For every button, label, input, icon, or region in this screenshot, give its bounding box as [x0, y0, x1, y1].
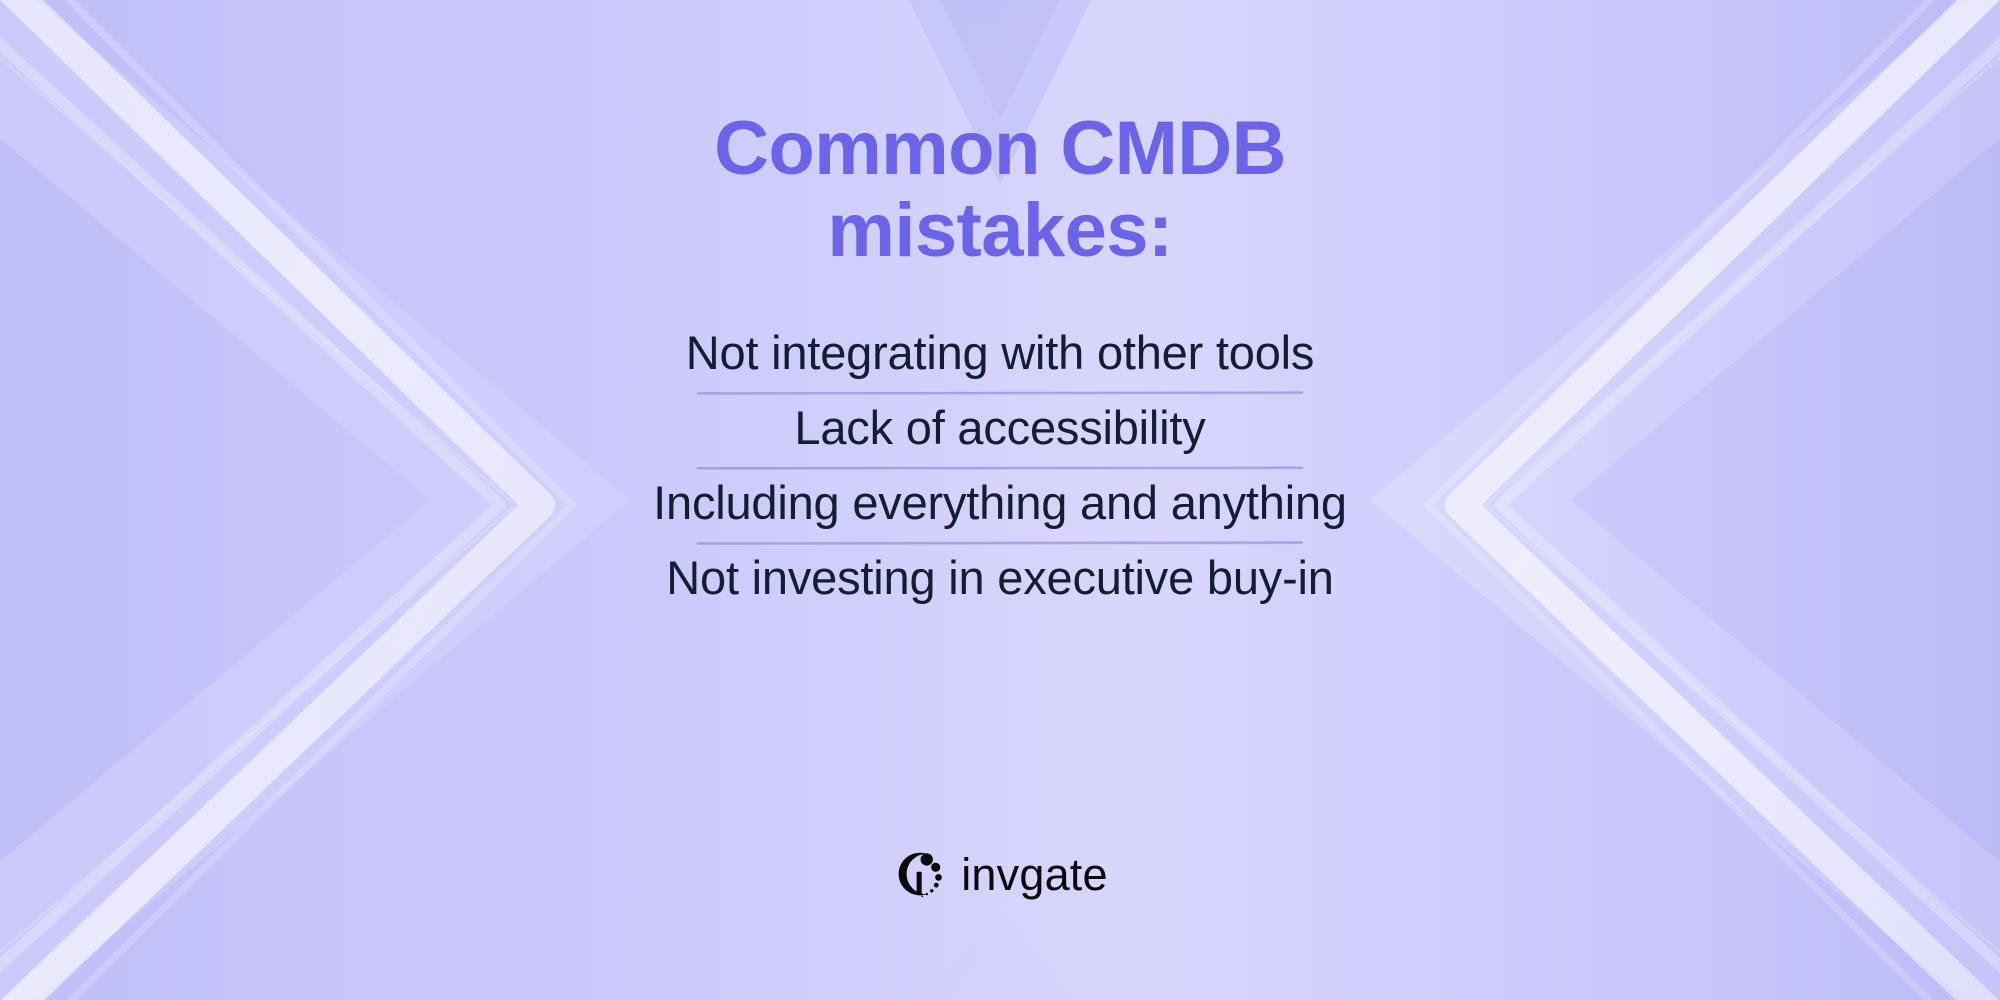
list-item: Lack of accessibility — [300, 395, 1700, 465]
invgate-logo: invgate — [0, 846, 2000, 902]
invgate-wordmark: invgate — [961, 852, 1108, 897]
list-divider — [696, 465, 1304, 470]
title-line-2: mistakes: — [500, 190, 1500, 272]
title-line-1: Common CMDB — [500, 108, 1500, 190]
list-divider — [696, 540, 1304, 545]
invgate-logo-mark-icon — [892, 846, 948, 902]
mistakes-list: Not integrating with other tools Lack of… — [300, 320, 1700, 615]
list-item: Not integrating with other tools — [300, 320, 1700, 390]
list-item: Including everything and anything — [300, 470, 1700, 540]
list-item: Not investing in executive buy-in — [300, 545, 1700, 615]
page-title: Common CMDB mistakes: — [500, 108, 1500, 272]
list-divider — [696, 390, 1304, 395]
slide-canvas: Common CMDB mistakes: Not integrating wi… — [0, 0, 2000, 1000]
